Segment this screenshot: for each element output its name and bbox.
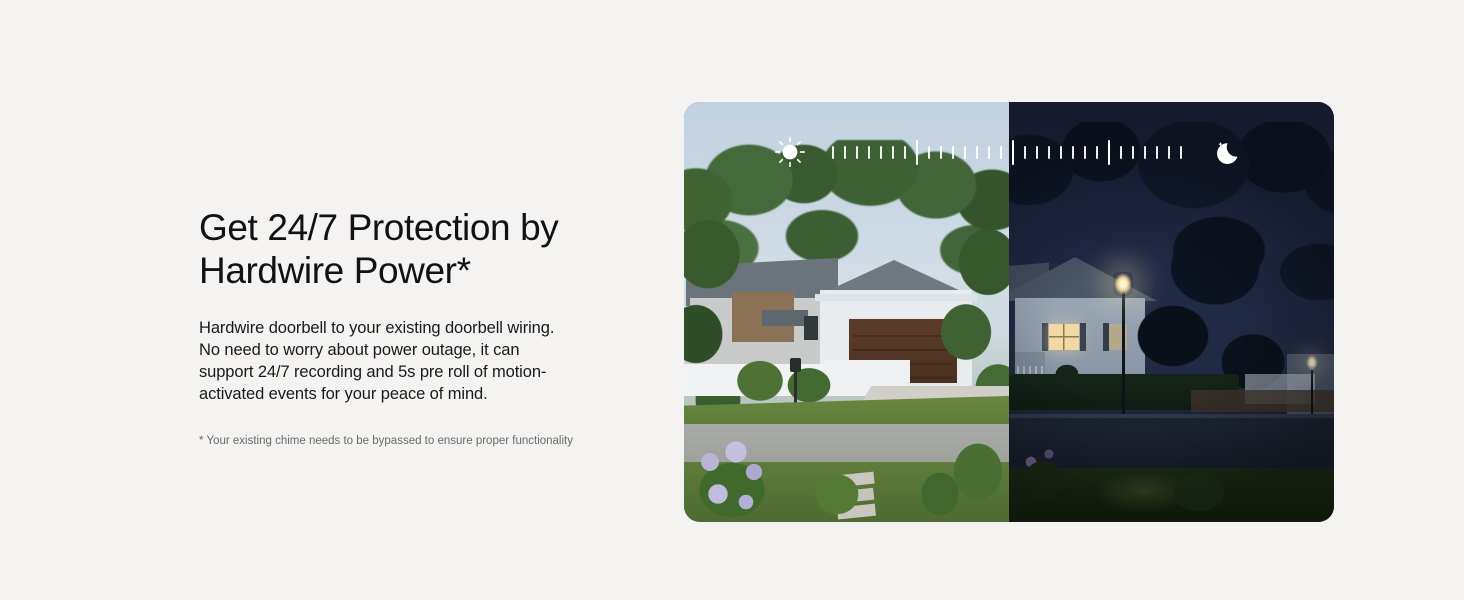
nighttime-scene: Same suburban home at night lit by a glo… [1009,102,1334,522]
day-shrub-mid [780,354,838,406]
body-description: Hardwire doorbell to your existing doorb… [199,317,577,405]
copy-column: Get 24/7 Protection by Hardwire Power* H… [199,206,619,449]
footnote-disclaimer: * Your existing chime needs to be bypass… [199,434,619,449]
page-title: Get 24/7 Protection by Hardwire Power* [199,206,619,292]
day-window-right [804,316,818,340]
day-bush-middle [802,458,872,522]
day-night-comparison-image: Suburban home exterior in daytime with g… [684,102,1334,522]
daytime-scene: Suburban home exterior in daytime with g… [684,102,1009,522]
day-hydrangea-bush [688,432,784,522]
day-awning [762,310,808,326]
day-bush-right [920,420,1009,522]
night-vignette [1009,102,1334,522]
promo-section: Get 24/7 Protection by Hardwire Power* H… [0,0,1464,600]
